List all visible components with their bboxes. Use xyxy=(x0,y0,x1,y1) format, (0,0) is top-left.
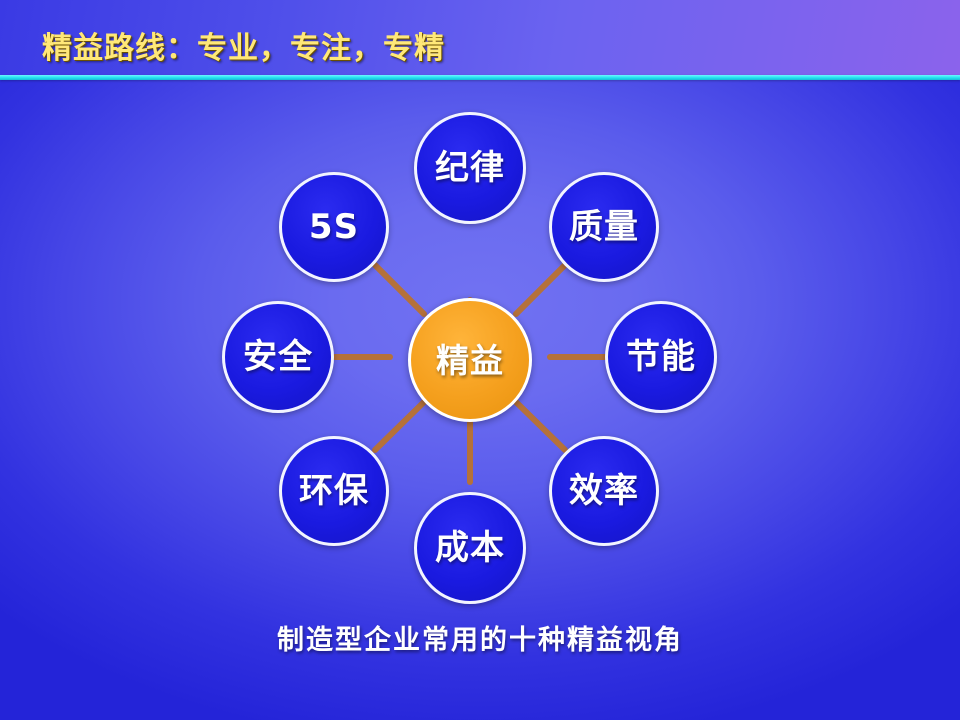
node-label: 环保 xyxy=(299,474,369,508)
node-energy-saving[interactable]: 节能 xyxy=(605,301,717,413)
node-label: 5S xyxy=(309,210,359,244)
node-label: 安全 xyxy=(243,340,313,374)
node-discipline[interactable]: 纪律 xyxy=(414,112,526,224)
spoke-line-bottom-left xyxy=(375,402,424,450)
node-safety[interactable]: 安全 xyxy=(222,301,334,413)
node-label: 效率 xyxy=(569,474,639,508)
hub-and-spoke-diagram: 纪律 质量 节能 效率 成本 环保 安全 5S 精益 xyxy=(0,76,960,636)
node-label: 节能 xyxy=(626,340,696,374)
node-cost[interactable]: 成本 xyxy=(414,492,526,604)
diagram-caption: 制造型企业常用的十种精益视角 xyxy=(0,618,960,657)
spoke-line-top-left xyxy=(375,265,424,314)
node-5s[interactable]: 5S xyxy=(279,172,389,282)
page-title: 精益路线：专业，专注，专精 xyxy=(42,23,445,67)
node-label: 质量 xyxy=(569,210,639,244)
node-label: 成本 xyxy=(435,531,505,565)
node-label: 精益 xyxy=(436,344,504,377)
node-lean-center[interactable]: 精益 xyxy=(408,298,532,422)
node-efficiency[interactable]: 效率 xyxy=(549,436,659,546)
node-quality[interactable]: 质量 xyxy=(549,172,659,282)
slide-canvas: 精益路线：专业，专注，专精 纪律 质量 节能 效率 xyxy=(0,0,960,720)
spoke-line-top-right xyxy=(516,265,565,314)
spoke-line-bottom-right xyxy=(516,402,565,450)
node-label: 纪律 xyxy=(435,151,505,185)
node-environment[interactable]: 环保 xyxy=(279,436,389,546)
